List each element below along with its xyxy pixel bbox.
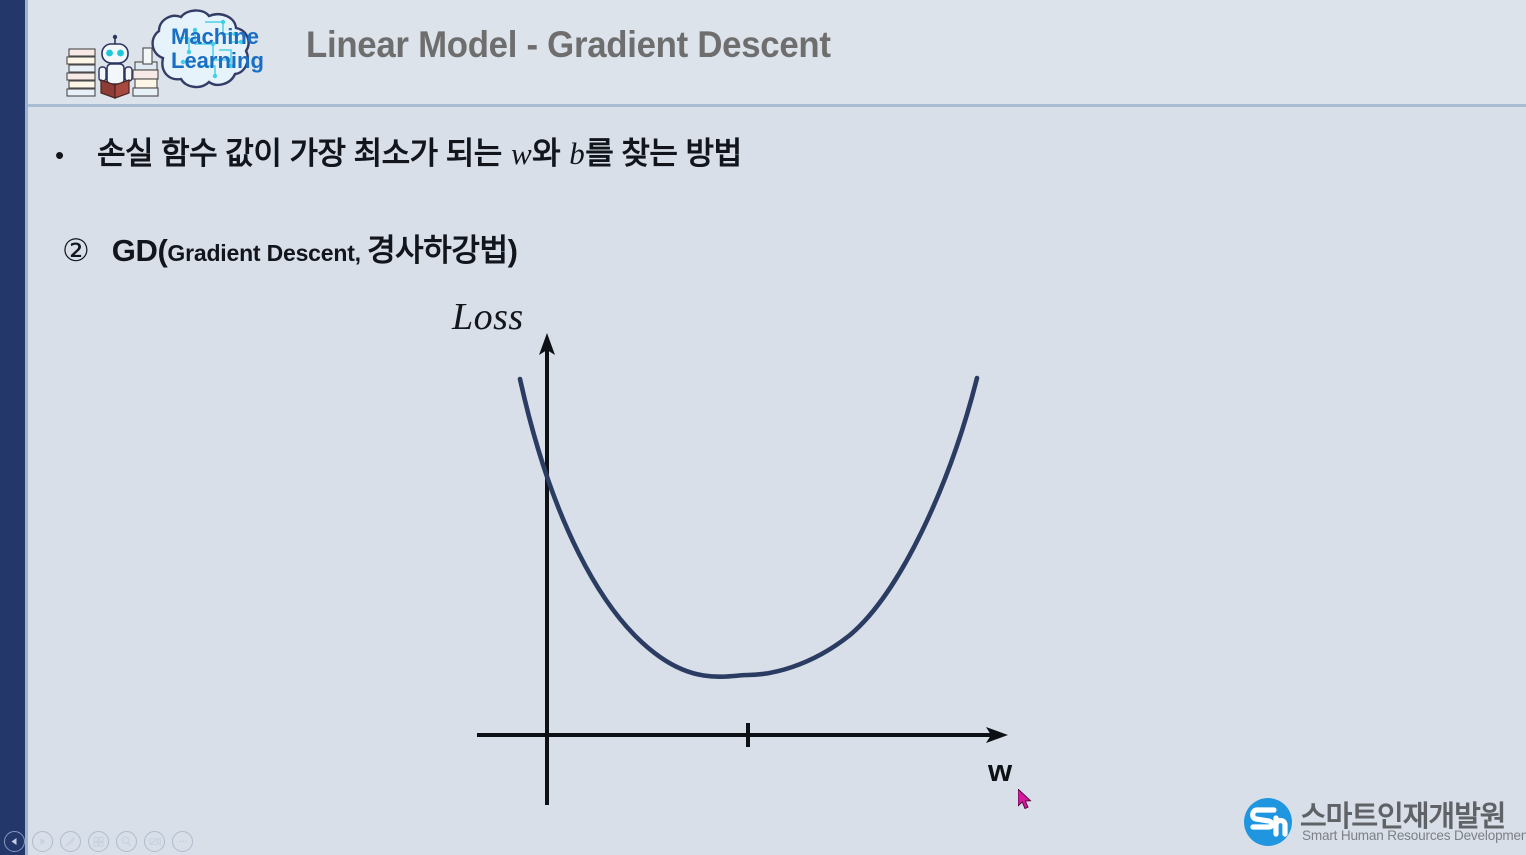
bullet-text-prefix: 손실 함수 값이 가장 최소가 되는 [97, 136, 510, 171]
ellipsis-icon [176, 835, 190, 848]
more-options-button[interactable] [172, 831, 193, 852]
pen-icon [64, 835, 77, 848]
item-number: ② [62, 233, 90, 269]
logo-text-machine: Machine [171, 24, 259, 49]
pen-tool-button[interactable] [60, 831, 81, 852]
zoom-button[interactable] [116, 831, 137, 852]
bullet-text-suffix: 를 찾는 방법 [585, 136, 741, 171]
item-main-open: GD( [112, 233, 168, 268]
item-sub-english: Gradient Descent [167, 240, 354, 266]
math-variable-b: b [568, 136, 585, 171]
presentation-slide: Machine Learning Linear Model - Gradient… [0, 0, 1526, 855]
previous-slide-button[interactable] [4, 831, 25, 852]
item-comma: , [355, 240, 367, 266]
math-variable-w: w [510, 136, 532, 171]
loss-curve-chart [430, 285, 1050, 825]
magnifier-icon [120, 835, 133, 848]
sh-mark-icon [1240, 794, 1296, 850]
corporate-logo-english: Smart Human Resources Development [1302, 827, 1526, 843]
blank-screen-button[interactable] [144, 831, 165, 852]
machine-learning-logo: Machine Learning [55, 4, 285, 104]
slide-left-rail-edge [25, 0, 28, 855]
bullet-text: 손실 함수 값이 가장 최소가 되는 w와 b를 찾는 방법 [97, 128, 742, 173]
triangle-right-icon [37, 836, 48, 847]
triangle-left-icon [9, 836, 20, 847]
presentation-toolbar[interactable] [4, 829, 193, 853]
item-text: GD(Gradient Descent, 경사하강법) [112, 225, 518, 270]
loss-curve [520, 378, 977, 677]
next-slide-button[interactable] [32, 831, 53, 852]
grid-icon [92, 835, 105, 848]
item-main-close: 경사하강법) [367, 233, 518, 268]
mouse-pointer [1018, 789, 1034, 811]
robot-icon [99, 35, 132, 84]
all-slides-button[interactable] [88, 831, 109, 852]
bullet-text-mid: 와 [532, 136, 568, 171]
bullet-marker: • [55, 140, 97, 171]
brain-circuit-icon: Machine Learning [55, 4, 285, 104]
bullet-line: • 손실 함수 값이 가장 최소가 되는 w와 b를 찾는 방법 [55, 128, 742, 173]
screen-off-icon [148, 835, 162, 848]
header-divider [28, 104, 1526, 107]
slide-left-rail [0, 0, 25, 855]
logo-text-learning: Learning [171, 48, 264, 73]
page-title: Linear Model - Gradient Descent [306, 24, 831, 66]
numbered-item-line: ② GD(Gradient Descent, 경사하강법) [62, 225, 518, 270]
corporate-logo: 스마트인재개발원 Smart Human Resources Developme… [1240, 794, 1526, 852]
